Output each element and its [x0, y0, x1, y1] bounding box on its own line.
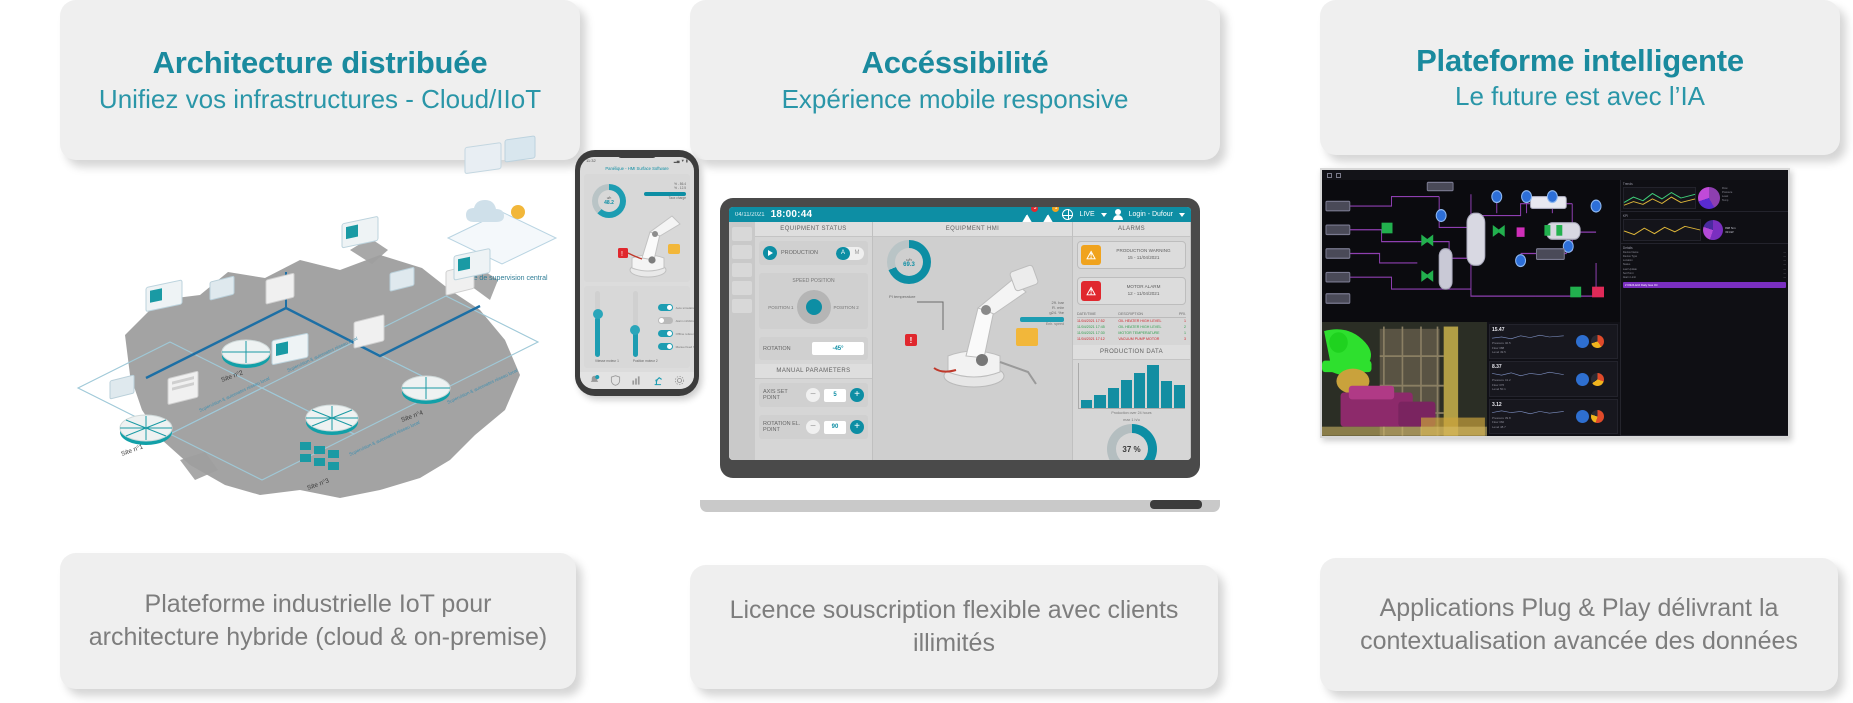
pie-chart-2[interactable]	[1703, 220, 1723, 240]
robot-arm-icon[interactable]	[653, 375, 664, 386]
alarm-meta: 15 - 11/04/2021	[1128, 255, 1160, 260]
tag-attribute-value: LY0324-E10 Daily Gas Oil	[1623, 282, 1786, 288]
knob-right-label: POSITION 2	[834, 305, 859, 310]
kpi-tile[interactable]: 15.47 Pressure 40.5 Flow 388 Level 49.5	[1489, 324, 1618, 359]
cell-priority: 1	[1175, 331, 1186, 335]
knob-left-label: POSITION 1	[768, 305, 793, 310]
card-subtitle: Le future est avec l’IA	[1455, 81, 1705, 112]
chevron-down-icon[interactable]	[1101, 213, 1107, 217]
hmi-clock: 18:00:44	[771, 209, 813, 220]
sparkline-icon	[1492, 334, 1564, 340]
caption-text: Applications Plug & Play délivrant la co…	[1338, 592, 1820, 658]
svg-text:!: !	[621, 251, 623, 258]
bar	[1161, 381, 1172, 408]
production-gauge: 37 %	[1107, 424, 1157, 460]
kpi-value: 8.37	[1492, 364, 1564, 370]
kpi-row-1: Pressure 40.5	[1492, 341, 1511, 345]
phone-meter: % - 86.4 % - 12.5 Taux charge	[644, 182, 686, 200]
toggle-label: Offline reference	[676, 332, 694, 336]
scada-main: 15.47 Pressure 40.5 Flow 388 Level 49.5	[1322, 180, 1788, 436]
caption-text: Licence souscription flexible avec clien…	[708, 594, 1200, 660]
rotation-stepper[interactable]: − 90 +	[806, 420, 864, 434]
phone-signal-icons: ▂▄ ▼ ▮	[674, 158, 688, 163]
toggle-row[interactable]: Alarm inhibition	[658, 317, 694, 324]
panel-title: ALARMS	[1073, 222, 1190, 237]
status-indicator	[1576, 410, 1589, 423]
back-arrow-icon[interactable]	[1327, 173, 1332, 178]
mobile-and-laptop-mockup: 04/11/2021 18:00:44 3 1	[575, 150, 1235, 550]
kpi-right	[1566, 327, 1615, 356]
header-card-plateforme: Plateforme intelligente Le future est av…	[1320, 0, 1840, 155]
production-chart-title: PRODUCTION DATA	[1073, 345, 1190, 360]
param-row-rotation[interactable]: ROTATION EL. POINT − 90 +	[759, 415, 868, 439]
header-card-accessibilite: Accéssibilité Expérience mobile responsi…	[690, 0, 1220, 160]
details-table: Device Name— Device Type— Location— Stat…	[1623, 251, 1786, 280]
toggle-group: Auto simulation Alarm inhibition Offline…	[658, 291, 694, 363]
param-label: AXIS SET POINT	[763, 389, 802, 401]
warning-count-badge: 3	[1031, 207, 1038, 212]
pid-svg	[1322, 180, 1620, 322]
phone-visual-panel: u/h 48.2 % - 86.4 % - 12.5 Taux charge	[584, 174, 690, 282]
hmi-body: EQUIPMENT STATUS PRODUCTION A M	[729, 222, 1191, 460]
bar	[1108, 388, 1119, 408]
col-priority: PRI.	[1175, 312, 1186, 316]
laptop-body: 04/11/2021 18:00:44 3 1	[720, 198, 1200, 478]
kpi-row-2: Flow 388	[1492, 346, 1504, 350]
caption-card-architecture: Plateforme industrielle IoT pour archite…	[60, 553, 576, 689]
hmi-top-nav: 04/11/2021 18:00:44 3 1	[729, 207, 1191, 222]
kpi-left: 15.47 Pressure 40.5 Flow 388 Level 49.5	[1492, 327, 1564, 356]
meter-line-2: % - 12.5	[644, 186, 686, 190]
bar	[1121, 380, 1132, 408]
speed-slider[interactable]	[595, 291, 600, 357]
kpi-tiles: 15.47 Pressure 40.5 Flow 388 Level 49.5	[1487, 322, 1620, 436]
plant-3d-render[interactable]	[1322, 322, 1487, 436]
kpi-row-2: Flow 360	[1492, 420, 1504, 424]
trend-line-2	[1624, 220, 1700, 240]
column-plateforme: Plateforme intelligente Le future est av…	[1320, 0, 1840, 703]
speed-position-knob-tile[interactable]: SPEED POSITION POSITION 1 POSITION 2	[759, 273, 868, 329]
cell-description: OIL HEATER HIGH LEVEL	[1118, 319, 1175, 323]
cell-description: OIL HEATER HIGH LEVEL	[1118, 325, 1175, 329]
kpi-row-3: Level 50.1	[1492, 387, 1506, 391]
rail-item[interactable]	[732, 245, 752, 259]
kpi-row-3: Level 49.5	[1492, 350, 1506, 354]
panel-title: Trends	[1623, 182, 1786, 186]
kpi-row-3: Level 48.7	[1492, 425, 1506, 429]
caption-card-accessibilite: Licence souscription flexible avec clien…	[690, 565, 1218, 689]
phone-mockup: 11:32 ▂▄ ▼ ▮ Panélique - HMI Surface Sof…	[575, 150, 699, 396]
param-value: 5	[824, 389, 846, 402]
kpi-tile[interactable]: 8.37 Pressure 41.2 Flow 376 Level 50.1	[1489, 361, 1618, 396]
rotation-value-tile[interactable]: ROTATION -45°	[759, 337, 868, 360]
trend-chart-1[interactable]	[1623, 187, 1696, 209]
toggle-switch[interactable]	[658, 304, 673, 311]
alarm-meta: 12 - 11/04/2021	[1128, 291, 1160, 296]
scada-window: 15.47 Pressure 40.5 Flow 388 Level 49.5	[1320, 168, 1790, 438]
production-bar-chart: Production over 24 hours	[1078, 363, 1185, 415]
cell-datetime: 11/04/2021 17:45	[1077, 325, 1118, 329]
pid-diagram[interactable]	[1322, 180, 1620, 322]
toggle-switch[interactable]	[658, 330, 673, 337]
card-title: Architecture distribuée	[153, 45, 488, 81]
bar	[1174, 385, 1185, 408]
equipment-status-panel: EQUIPMENT STATUS PRODUCTION A M	[755, 222, 873, 460]
network-map-svg: Centre de supervision central Site n°1	[50, 160, 590, 540]
hmi-readouts: 29. bar R. mbr g24. %e Enh. speed	[1020, 300, 1064, 326]
kpi-left: 3.12 Pressure 39.8 Flow 360 Level 48.7	[1492, 402, 1564, 431]
panel-title: KPI	[1623, 214, 1786, 218]
param-value: 90	[824, 421, 846, 434]
cell-priority: 3	[1175, 337, 1186, 341]
rotation-value: -45°	[812, 342, 864, 355]
hmi-date: 04/11/2021	[735, 212, 765, 218]
scada-left-area: 15.47 Pressure 40.5 Flow 388 Level 49.5	[1322, 180, 1621, 436]
knob-row: POSITION 1 POSITION 2	[768, 290, 859, 324]
warning-triangle-icon: ⚠	[1081, 245, 1101, 265]
readout-caption: Enh. speed	[1020, 322, 1064, 326]
critical-triangle-icon: ⚠	[1081, 281, 1101, 301]
toggle-row[interactable]: Manuel feed forward	[658, 343, 694, 350]
toggle-switch[interactable]	[658, 317, 673, 324]
trend-line-1	[1624, 188, 1695, 208]
bar	[1094, 395, 1105, 408]
slider-1-label: Vitesse moteur 1	[595, 359, 619, 363]
pie-chart-1[interactable]	[1698, 187, 1720, 209]
kpi-value: 15.47	[1492, 327, 1564, 333]
avatar-icon[interactable]	[1113, 209, 1123, 220]
isometric-network-map: Centre de supervision central Site n°1	[50, 160, 590, 540]
card-subtitle: Expérience mobile responsive	[782, 84, 1129, 115]
plant-3d-svg	[1322, 322, 1487, 436]
alarm-item-critical[interactable]: ⚠ MOTOR ALARM 12 - 11/04/2021	[1077, 277, 1186, 305]
hmi-left-rail[interactable]	[729, 222, 755, 460]
chart-xlabel: Production over 24 hours	[1078, 411, 1185, 415]
phone-screen: 11:32 ▂▄ ▼ ▮ Panélique - HMI Surface Sof…	[580, 157, 694, 389]
kpi-tile[interactable]: 3.12 Pressure 39.8 Flow 360 Level 48.7	[1489, 399, 1618, 434]
toggle-switch[interactable]	[658, 343, 673, 350]
minus-icon[interactable]: −	[806, 388, 820, 402]
laptop-screen: 04/11/2021 18:00:44 3 1	[729, 207, 1191, 460]
alarms-panel: ALARMS ⚠ PRODUCTION WARNING 15 - 11/04/2…	[1073, 222, 1191, 460]
card-title: Plateforme intelligente	[1416, 43, 1744, 79]
phone-time: 11:32	[586, 158, 596, 163]
metric-2: 39 kW	[1725, 230, 1786, 234]
cell-datetime: 11/04/2021 17:52	[1077, 319, 1118, 323]
arc-gauge	[1591, 335, 1604, 348]
column-architecture: Architecture distribuée Unifiez vos infr…	[60, 0, 580, 703]
bar	[1081, 400, 1092, 408]
plus-icon[interactable]: +	[850, 420, 864, 434]
production-toggle-tile[interactable]: PRODUCTION A M	[759, 241, 868, 265]
readout-3: g24. %e	[1020, 310, 1064, 315]
scada-right-area: Trends FlowPressure	[1621, 180, 1788, 436]
bar	[1147, 365, 1158, 408]
sparkline-icon	[1492, 409, 1564, 415]
locale-label: LIVE	[1079, 211, 1094, 218]
trend-chart-2[interactable]	[1623, 219, 1701, 241]
kpi-row-2: Flow 376	[1492, 383, 1504, 387]
toggle-label: Auto simulation	[676, 306, 694, 310]
alert-bell-icon[interactable]	[589, 375, 600, 386]
alarm-triangle-icon[interactable]: 1	[1041, 207, 1056, 222]
cell-description: VACUUM PUMP MOTOR	[1118, 337, 1175, 341]
play-icon[interactable]	[763, 246, 777, 260]
toggle-row[interactable]: Offline reference	[658, 330, 694, 337]
kpi-value: 3.12	[1492, 402, 1564, 408]
kpi-row-1: Pressure 39.8	[1492, 416, 1511, 420]
toggle-row[interactable]: Auto simulation	[658, 304, 694, 311]
card-subtitle: Unifiez vos infrastructures - Cloud/IIoT	[99, 84, 541, 115]
bar-series	[1078, 363, 1185, 409]
phone-app-title: Panélique - HMI Surface Software	[580, 164, 694, 174]
meter-caption: Taux charge	[644, 196, 686, 200]
gear-icon[interactable]	[674, 375, 685, 386]
production-label: PRODUCTION	[781, 250, 818, 256]
cell-priority: 1	[1175, 319, 1186, 323]
warning-triangle-icon[interactable]: 3	[1020, 207, 1035, 222]
details-panel[interactable]: Details Device Name— Device Type— Locati…	[1621, 244, 1788, 436]
rail-item[interactable]	[732, 281, 752, 295]
kpi-row-1: Pressure 41.2	[1492, 378, 1511, 382]
auto-manual-toggle[interactable]: A M	[836, 247, 864, 260]
cell-datetime: 11/04/2021 17:12	[1077, 337, 1118, 341]
trends-panel[interactable]: Trends FlowPressure	[1621, 180, 1788, 212]
knob-caption: SPEED POSITION	[792, 278, 834, 284]
scada-dashboard-screenshot: 15.47 Pressure 40.5 Flow 388 Level 49.5	[1320, 168, 1790, 438]
rotary-knob[interactable]	[797, 290, 831, 324]
cell-description: MOTOR TEMPERATURE	[1118, 331, 1175, 335]
laptop-base	[700, 500, 1220, 512]
slider-group: Vitesse moteur 1 Position moteur 2	[589, 291, 658, 363]
alarm-text: MOTOR ALARM 12 - 11/04/2021	[1105, 284, 1182, 298]
manual-parameters-title: MANUAL PARAMETERS	[755, 364, 872, 379]
kpi-right	[1566, 364, 1615, 393]
param-label: ROTATION EL. POINT	[763, 421, 802, 433]
alarm-title: PRODUCTION WARNING	[1116, 248, 1170, 253]
col-description: DESCRIPTION	[1118, 312, 1175, 316]
kpi-rows: Pressure 40.5 Flow 388 Level 49.5	[1492, 341, 1564, 355]
kpi-panel[interactable]: KPI 898 Nm 39 kW	[1621, 212, 1788, 244]
caption-text: Plateforme industrielle IoT pour archite…	[78, 588, 558, 654]
gauge-top-label: max 1 h/u	[1073, 418, 1190, 422]
chevron-down-icon[interactable]	[1179, 213, 1185, 217]
cell-priority: 2	[1175, 325, 1186, 329]
mode-auto[interactable]: A	[836, 247, 850, 260]
bar	[1134, 373, 1145, 408]
rail-item[interactable]	[732, 263, 752, 277]
scada-toolbar[interactable]	[1322, 170, 1788, 180]
user-label: Login - Dufour	[1129, 211, 1173, 218]
mode-manual[interactable]: M	[850, 247, 864, 260]
alarm-table: DATE/TIME DESCRIPTION PRI. 11/04/2021 17…	[1077, 312, 1186, 342]
rail-item[interactable]	[732, 227, 752, 241]
sparkline-icon	[1492, 371, 1564, 377]
status-indicator	[1576, 335, 1589, 348]
slider-2-label: Position moteur 2	[633, 359, 658, 363]
alarm-count-badge: 1	[1052, 207, 1059, 212]
panel-title: EQUIPMENT STATUS	[755, 222, 872, 237]
alarm-title: MOTOR ALARM	[1127, 284, 1161, 289]
layout-icon[interactable]	[1336, 173, 1341, 178]
minus-icon[interactable]: −	[806, 420, 820, 434]
panel-title: Details	[1623, 246, 1786, 250]
status-indicator	[1576, 373, 1589, 386]
chart-icon[interactable]	[631, 375, 642, 386]
phone-controls-panel: Vitesse moteur 1 Position moteur 2	[584, 286, 690, 368]
rotation-label: ROTATION	[763, 346, 791, 352]
caption-card-plateforme: Applications Plug & Play délivrant la co…	[1320, 558, 1838, 691]
laptop-mockup: 04/11/2021 18:00:44 3 1	[700, 198, 1240, 518]
header-card-architecture: Architecture distribuée Unifiez vos infr…	[60, 0, 580, 160]
phone-status-bar: 11:32 ▂▄ ▼ ▮	[580, 157, 694, 164]
param-row-axis[interactable]: AXIS SET POINT − 5 +	[759, 383, 868, 407]
toggle-label: Manuel feed forward	[676, 345, 694, 349]
detail-row: Alarm Limit—	[1623, 276, 1786, 280]
cell-datetime: 11/04/2021 17:30	[1077, 331, 1118, 335]
toggle-label: Alarm inhibition	[676, 319, 694, 323]
column-accessibilite: Accéssibilité Expérience mobile responsi…	[690, 0, 1220, 703]
right-metrics: 898 Nm 39 kW	[1725, 226, 1786, 234]
slider-2-wrap: Position moteur 2	[633, 291, 658, 363]
site-label-1: Site n°1	[120, 442, 145, 457]
globe-icon[interactable]	[1062, 209, 1073, 220]
plus-icon[interactable]: +	[850, 388, 864, 402]
shield-icon[interactable]	[610, 375, 621, 386]
legend-1: FlowPressureLevelTemp	[1722, 187, 1786, 209]
axis-stepper[interactable]: − 5 +	[806, 388, 864, 402]
arc-gauge	[1591, 373, 1604, 386]
position-slider[interactable]	[633, 291, 638, 357]
feature-cards-graphic: Architecture distribuée Unifiez vos infr…	[0, 0, 1853, 703]
kpi-left: 8.37 Pressure 41.2 Flow 376 Level 50.1	[1492, 364, 1564, 393]
scada-bottom-row: 15.47 Pressure 40.5 Flow 388 Level 49.5	[1322, 322, 1620, 436]
panel-title: EQUIPMENT HMI	[873, 222, 1072, 237]
alarm-item-warning[interactable]: ⚠ PRODUCTION WARNING 15 - 11/04/2021	[1077, 241, 1186, 269]
kpi-right	[1566, 402, 1615, 431]
kpi-rows: Pressure 39.8 Flow 360 Level 48.7	[1492, 416, 1564, 430]
card-title: Accéssibilité	[862, 45, 1049, 81]
phone-notch	[618, 152, 656, 158]
rail-item[interactable]	[732, 299, 752, 313]
col-datetime: DATE/TIME	[1077, 312, 1118, 316]
arc-gauge	[1591, 410, 1604, 423]
laptop-trackpad-notch	[1150, 500, 1202, 509]
phone-bottom-nav	[580, 372, 694, 389]
kpi-rows: Pressure 41.2 Flow 376 Level 50.1	[1492, 378, 1564, 392]
alarm-text: PRODUCTION WARNING 15 - 11/04/2021	[1105, 248, 1182, 262]
gauge-value: 37 %	[1116, 433, 1148, 460]
slider-1-wrap: Vitesse moteur 1	[595, 291, 619, 363]
phone-robot-arm-illustration: !	[610, 204, 694, 280]
equipment-hmi-panel: EQUIPMENT HMI u/h 69.3 PI temperature	[873, 222, 1073, 460]
table-row[interactable]: 11/04/2021 17:12 VACUUM PUMP MOTOR 3	[1077, 336, 1186, 342]
